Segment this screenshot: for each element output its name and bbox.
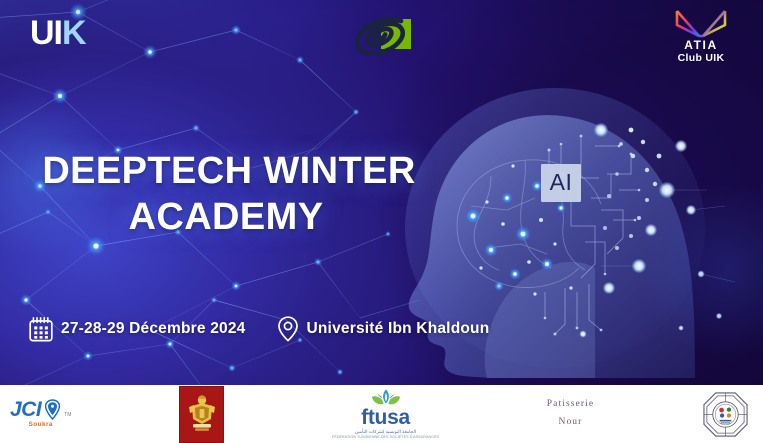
map-pin-icon [276, 315, 300, 343]
patisserie-line-1: Patisserie [547, 396, 594, 414]
uik-logo-accent: K [62, 14, 86, 52]
jci-wordmark: JCI [10, 399, 41, 420]
atia-logo: ATIA Club UIK [664, 8, 738, 64]
headline-line-1: DEEPTECH WINTER [0, 148, 452, 194]
sponsor-footer: JCI TM Soukra [0, 385, 763, 443]
ftusa-french-text: FÉDÉRATION TUNISIENNE DES SOCIÉTÉS D'ASS… [332, 436, 439, 440]
uik-logo-text: UIK [30, 16, 86, 50]
sponsor-patisserie: Patisserie Nour [547, 385, 594, 443]
uik-logo-primary: UI [30, 14, 62, 52]
event-poster: AI [0, 0, 763, 443]
jci-shield-icon [44, 399, 61, 420]
ftusa-lotus-icon [369, 388, 403, 406]
jci-city-text: Soukra [28, 422, 52, 429]
event-date-group: 27-28-29 Décembre 2024 [28, 316, 246, 343]
calendar-icon [28, 316, 54, 343]
atia-logo-subtitle: Club UIK [664, 52, 738, 64]
ftusa-wordmark: ftusa [361, 407, 410, 428]
sponsor-octagon [702, 385, 749, 443]
event-date-text: 27-28-29 Décembre 2024 [61, 320, 246, 338]
event-location-group: Université Ibn Khaldoun [276, 315, 490, 343]
event-location-text: Université Ibn Khaldoun [307, 320, 490, 338]
headline-line-2: ACADEMY [0, 194, 452, 240]
sponsor-jci: JCI TM Soukra [10, 385, 71, 443]
top-logo-bar: UIK [0, 0, 763, 78]
atia-logo-name: ATIA [664, 39, 738, 52]
sponsor-ftusa: ftusa الجامعة التونسية لشركات التأمين FÉ… [332, 385, 439, 443]
octagon-emblem-icon [702, 391, 749, 438]
crest-emblem-icon [186, 393, 218, 435]
nvidia-eye-icon [345, 13, 417, 61]
event-meta-row: 27-28-29 Décembre 2024 Université Ibn Kh… [28, 315, 489, 343]
atia-butterfly-icon [674, 8, 728, 38]
jci-tm-mark: TM [64, 413, 71, 418]
sponsor-crest [179, 385, 224, 443]
patisserie-line-2: Nour [547, 414, 594, 432]
nvidia-logo [345, 13, 417, 66]
uik-logo: UIK [30, 16, 86, 50]
poster-headline: DEEPTECH WINTER ACADEMY [0, 148, 452, 241]
